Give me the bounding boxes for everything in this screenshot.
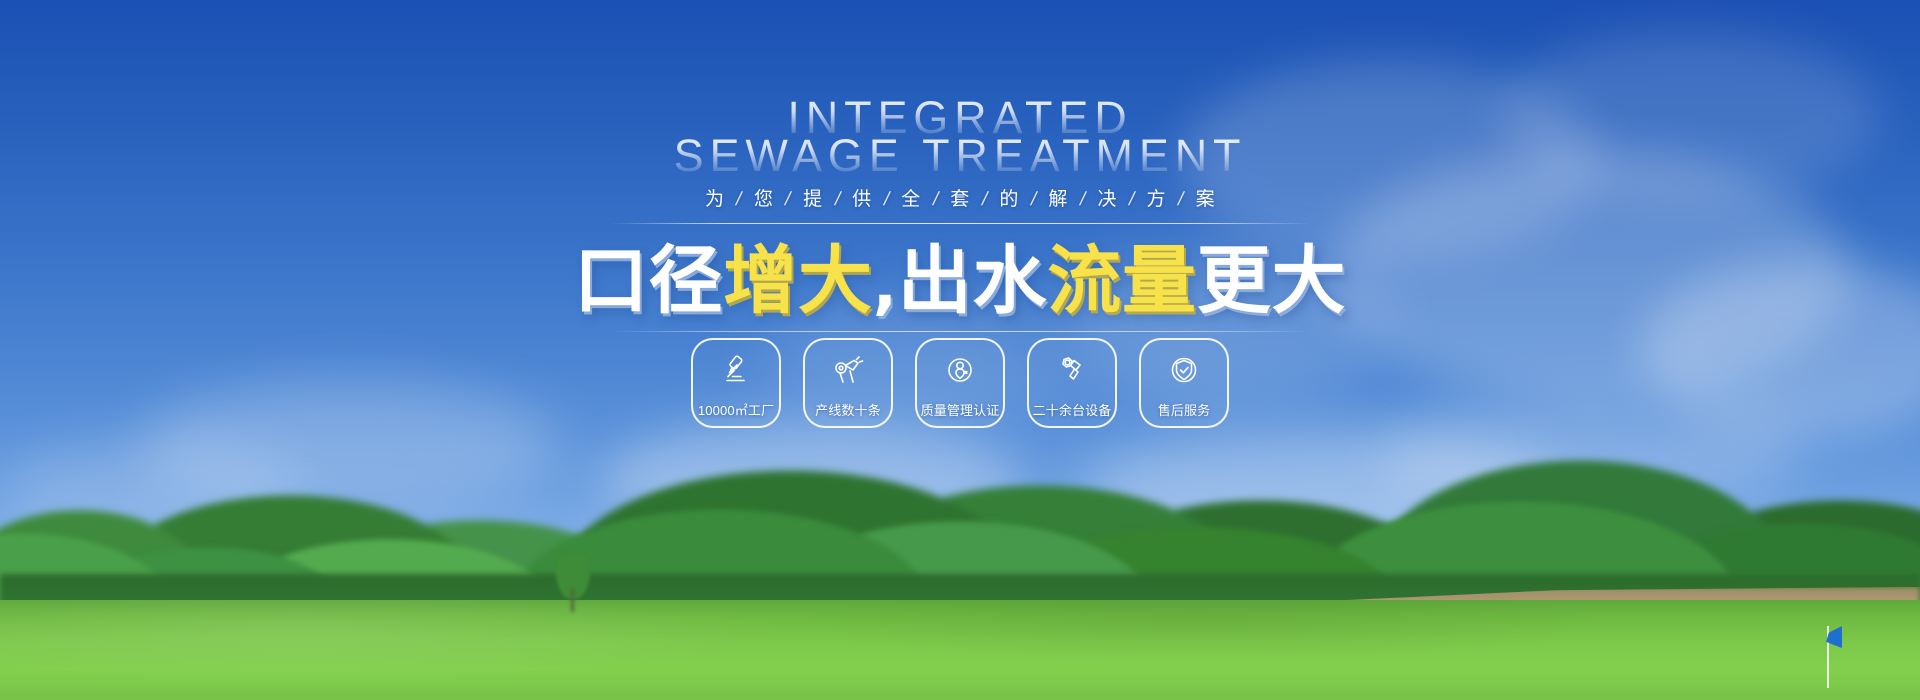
feature-badge-after-sales[interactable]: 售后服务 [1139, 338, 1229, 428]
headline-char: 径 [648, 242, 723, 320]
headline-char: 增 [723, 242, 798, 320]
microscope-icon [693, 340, 779, 400]
feature-badge-equipment[interactable]: 二十余台设备 [1027, 338, 1117, 428]
bolt-nut-icon [1029, 340, 1115, 400]
tagline-word: 案 [1184, 184, 1227, 211]
tagline-word: 为 [693, 184, 736, 211]
tagline: 为/您/提/供/全/套/的/解/决/方/案 [500, 184, 1420, 211]
tagline-word: 方 [1135, 184, 1178, 211]
divider-bottom [610, 331, 1310, 332]
tagline-word: 的 [987, 184, 1030, 211]
headline-char: 更 [1197, 242, 1272, 320]
tagline-word: 供 [840, 184, 883, 211]
main-headline: 口径增大,出水流量更大 [500, 242, 1420, 320]
feature-badge-list: 10000㎡工厂 产线数十条 [691, 338, 1229, 428]
feature-badge-production-line[interactable]: 产线数十条 [803, 338, 893, 428]
feature-badge-factory[interactable]: 10000㎡工厂 [691, 338, 781, 428]
headline-char: , [873, 253, 898, 321]
tagline-word: 提 [791, 184, 834, 211]
headline-char: 量 [1122, 242, 1197, 320]
hero-banner: INTEGRATED SEWAGE TREATMENT 为/您/提/供/全/套/… [0, 0, 1920, 700]
tagline-word: 全 [889, 184, 932, 211]
tagline-word: 您 [742, 184, 785, 211]
feature-badge-label: 10000㎡工厂 [698, 400, 774, 419]
feature-badge-label: 产线数十条 [815, 400, 881, 419]
feature-badge-certification[interactable]: 质量管理认证 [915, 338, 1005, 428]
feature-badge-label: 质量管理认证 [921, 400, 1000, 419]
divider-top [610, 223, 1310, 224]
feature-badge-label: 售后服务 [1158, 400, 1211, 419]
headline-char: 大 [798, 242, 873, 320]
production-line-icon [805, 340, 891, 400]
headline-char: 流 [1047, 242, 1122, 320]
shield-check-icon [1141, 340, 1227, 400]
copy-block: INTEGRATED SEWAGE TREATMENT 为/您/提/供/全/套/… [500, 96, 1420, 332]
headline-char: 出 [898, 242, 973, 320]
tagline-word: 套 [938, 184, 981, 211]
headline-char: 大 [1272, 242, 1347, 320]
tagline-word: 解 [1036, 184, 1079, 211]
tagline-word: 决 [1085, 184, 1128, 211]
headline-char: 口 [574, 242, 649, 320]
headline-char: 水 [973, 242, 1048, 320]
feature-badge-label: 二十余台设备 [1033, 400, 1112, 419]
english-headline-line-2: SEWAGE TREATMENT [500, 134, 1420, 178]
banner-content: INTEGRATED SEWAGE TREATMENT 为/您/提/供/全/套/… [0, 0, 1920, 700]
certificate-person-icon [917, 340, 1003, 400]
